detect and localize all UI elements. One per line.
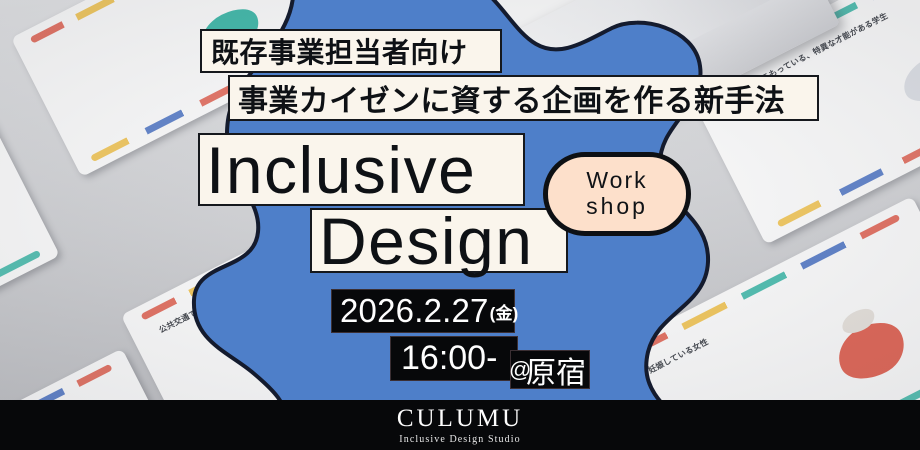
workshop-badge: Work shop (543, 152, 691, 236)
footer-brand-bar: CULUMU Inclusive Design Studio (0, 400, 920, 450)
persona-card: お金も 時間もない大学生 (0, 116, 59, 380)
event-poster: お金も 時間もない大学生 先天的に 耳が聞こえない若者 (0, 0, 920, 450)
workshop-badge-line-1: Work (586, 168, 647, 194)
event-date-box: 2026.2.27 (金) (331, 289, 515, 333)
subtitle-line-1: 既存事業担当者向け (200, 29, 502, 73)
event-date: 2026.2.27 (340, 292, 489, 330)
workshop-badge-line-2: shop (586, 194, 648, 220)
title-line-design: Design (310, 208, 568, 273)
brand-name: CULUMU (397, 406, 523, 431)
subtitle-line-2: 事業カイゼンに資する企画を作る新手法 (228, 75, 819, 121)
brand-tagline: Inclusive Design Studio (399, 435, 520, 445)
event-weekday: (金) (490, 299, 519, 324)
at-symbol: @ (509, 359, 531, 381)
title-line-inclusive: Inclusive (198, 133, 525, 206)
persona-card-figure (0, 178, 32, 302)
event-time-box: 16:00- (390, 336, 518, 381)
